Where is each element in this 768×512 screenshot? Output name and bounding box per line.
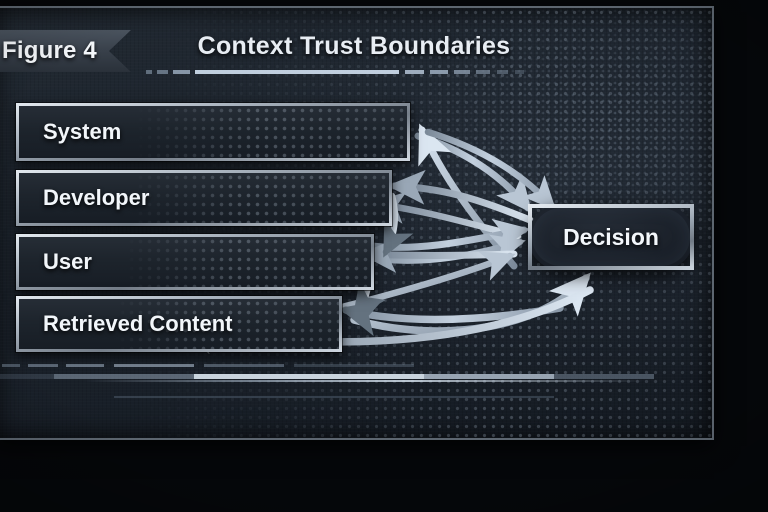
trust-bar-label: User — [43, 249, 92, 275]
figure-canvas: System Developer User Retrieved Content … — [0, 0, 768, 512]
decision-node-label: Decision — [563, 224, 659, 251]
trust-bar-label: Retrieved Content — [43, 311, 232, 337]
baseline-streak — [0, 364, 694, 367]
trust-bar-user[interactable]: User — [16, 234, 374, 290]
baseline-streak-thin — [84, 380, 644, 382]
trust-bar-system[interactable]: System — [16, 103, 410, 161]
baseline-streak-faint — [0, 396, 694, 398]
diagram-panel: System Developer User Retrieved Content … — [0, 6, 714, 440]
trust-bar-label: Developer — [43, 185, 149, 211]
figure-title: Context Trust Boundaries — [144, 32, 564, 61]
figure-title-text: Context Trust Boundaries — [144, 32, 564, 61]
baseline-streak-bright — [0, 374, 712, 379]
figure-number-badge: Figure 4 — [0, 30, 131, 72]
trust-bar-label: System — [43, 119, 121, 145]
title-underline — [144, 70, 559, 74]
figure-number-label: Figure 4 — [2, 37, 97, 65]
trust-bar-retrieved-content[interactable]: Retrieved Content — [16, 296, 342, 352]
trust-bar-developer[interactable]: Developer — [16, 170, 392, 226]
decision-node[interactable]: Decision — [528, 204, 694, 270]
